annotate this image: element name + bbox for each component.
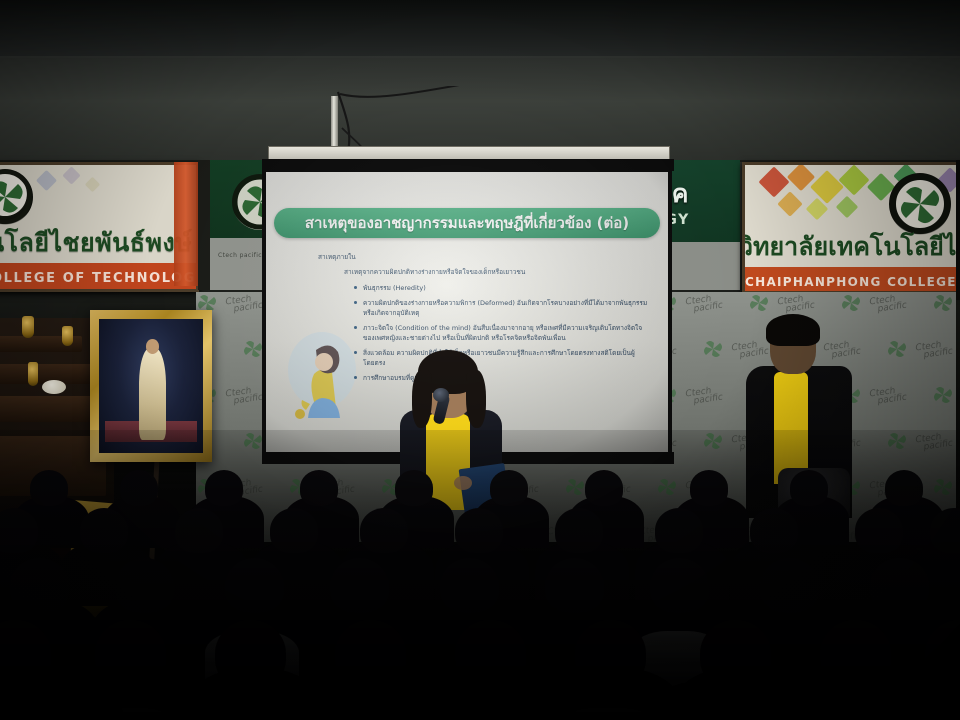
- ctech-brand-line2: pacific: [693, 301, 723, 313]
- audience-member-head: [555, 508, 603, 553]
- slide-title-text: สาเหตุของอาชญากรรมและทฤษฎีที่เกี่ยวข้อง …: [305, 211, 629, 235]
- portrait-figure-head: [146, 339, 160, 354]
- ctech-brand-text: Ctechpacific: [225, 386, 263, 407]
- audience-member-head: [395, 470, 433, 506]
- audience-member-head: [120, 470, 158, 506]
- foreground-darkness: [0, 600, 960, 720]
- ctech-brand-text: Ctechpacific: [915, 340, 953, 361]
- banner-left-diamonds: [21, 167, 141, 213]
- ctech-logo-icon: [748, 292, 770, 318]
- presenter-hair-right: [466, 370, 486, 428]
- audience-member-head: [205, 470, 243, 506]
- audience-member-head: [490, 470, 528, 506]
- ctech-brand-line2: pacific: [233, 393, 263, 405]
- banner-right: วิทยาลัยเทคโนโลยีไชยพันธ์พงษ์ CHAIPHANPH…: [742, 162, 960, 294]
- microphone-head-icon: [433, 388, 449, 402]
- ctech-brand-line2: pacific: [877, 393, 907, 405]
- banner-left-english-text: OLLEGE OF TECHNOLOGY: [0, 271, 196, 286]
- banner-right-english-text: CHAIPHANPHONG COLLEGE OF TE: [745, 275, 960, 289]
- slide-heading: สาเหตุภายใน: [318, 252, 648, 262]
- audience-member-head: [270, 508, 318, 553]
- audience-member-head: [455, 508, 503, 553]
- audience-member-head: [360, 508, 408, 553]
- audience-member-head: [885, 470, 923, 506]
- ctech-brand-line2: pacific: [877, 301, 907, 313]
- audience-member-head: [30, 470, 68, 506]
- ctech-logo-icon: [886, 338, 908, 364]
- portrait-figure: [139, 348, 166, 439]
- audience-member-head: [790, 470, 828, 506]
- slide-subheading: สาเหตุจากความผิดปกติทางร่างกายหรือจิตใจข…: [344, 267, 648, 277]
- ctech-brand-text: Ctechpacific: [869, 294, 907, 315]
- ctech-brand-text: Ctechpacific: [777, 294, 815, 315]
- ctech-logo-icon: [242, 338, 264, 364]
- banner-left: นโลยีไชยพันธ์พงษ์ OLLEGE OF TECHNOLOGY: [0, 162, 199, 292]
- ctech-brand-text: Ctech pacific: [218, 252, 262, 259]
- college-logo-icon: [889, 173, 951, 235]
- audience-member-head: [175, 508, 223, 553]
- slide-bullet-item: ความผิดปกติของร่างกายหรือความพิการ (Defo…: [354, 298, 648, 318]
- ctech-logo-icon: [932, 384, 954, 410]
- attendee-hair: [766, 314, 820, 346]
- altar-gold-ornament: [22, 316, 34, 338]
- audience-member-head: [855, 508, 903, 553]
- pinwheel-glyph: [889, 173, 951, 235]
- slide-title-pill: สาเหตุของอาชญากรรมและทฤษฎีที่เกี่ยวข้อง …: [274, 208, 660, 238]
- ctech-brand-line2: pacific: [233, 301, 263, 313]
- audience-member-head: [585, 470, 623, 506]
- lecture-hall-photo: นโลยีไชยพันธ์พงษ์ OLLEGE OF TECHNOLOGY: [0, 0, 960, 720]
- ctech-brand-text: Ctechpacific: [685, 386, 723, 407]
- audience-member-head: [690, 470, 728, 506]
- audience-member-head: [655, 508, 703, 553]
- ceiling: [0, 0, 960, 60]
- ctech-brand-line2: pacific: [923, 347, 953, 359]
- altar-white-bowl: [42, 380, 66, 394]
- ctech-brand-text: Ctechpacific: [685, 294, 723, 315]
- banner-left-thai-text: นโลยีไชยพันธ์พงษ์: [0, 223, 192, 263]
- ctech-logo-icon: [932, 292, 954, 318]
- audience-member-head: [750, 508, 798, 553]
- ctech-brand-line2: pacific: [693, 393, 723, 405]
- audience-member-head: [80, 508, 128, 553]
- ctech-logo-icon: [840, 292, 862, 318]
- ctech-logo-icon: [702, 338, 724, 364]
- wall-right-edge: [956, 160, 960, 300]
- slide-bullet-item: ภาวะจิตใจ (Condition of the mind) อันสืบ…: [354, 323, 648, 343]
- altar-gold-ornament: [62, 326, 73, 346]
- presenter-hair-left: [412, 370, 432, 428]
- audience-member-head: [300, 470, 338, 506]
- banner-right-thai-text: วิทยาลัยเทคโนโลยีไชยพันธ์พงษ์: [742, 227, 960, 267]
- altar-gold-candlestick: [28, 362, 38, 386]
- ctech-brand-text: Ctechpacific: [225, 294, 263, 315]
- slide-bullet-item: พันธุกรรม (Heredity): [354, 283, 648, 293]
- ctech-brand-line2: pacific: [785, 301, 815, 313]
- ctech-brand-text: Ctechpacific: [869, 386, 907, 407]
- wall-stripe-orange: [174, 162, 200, 286]
